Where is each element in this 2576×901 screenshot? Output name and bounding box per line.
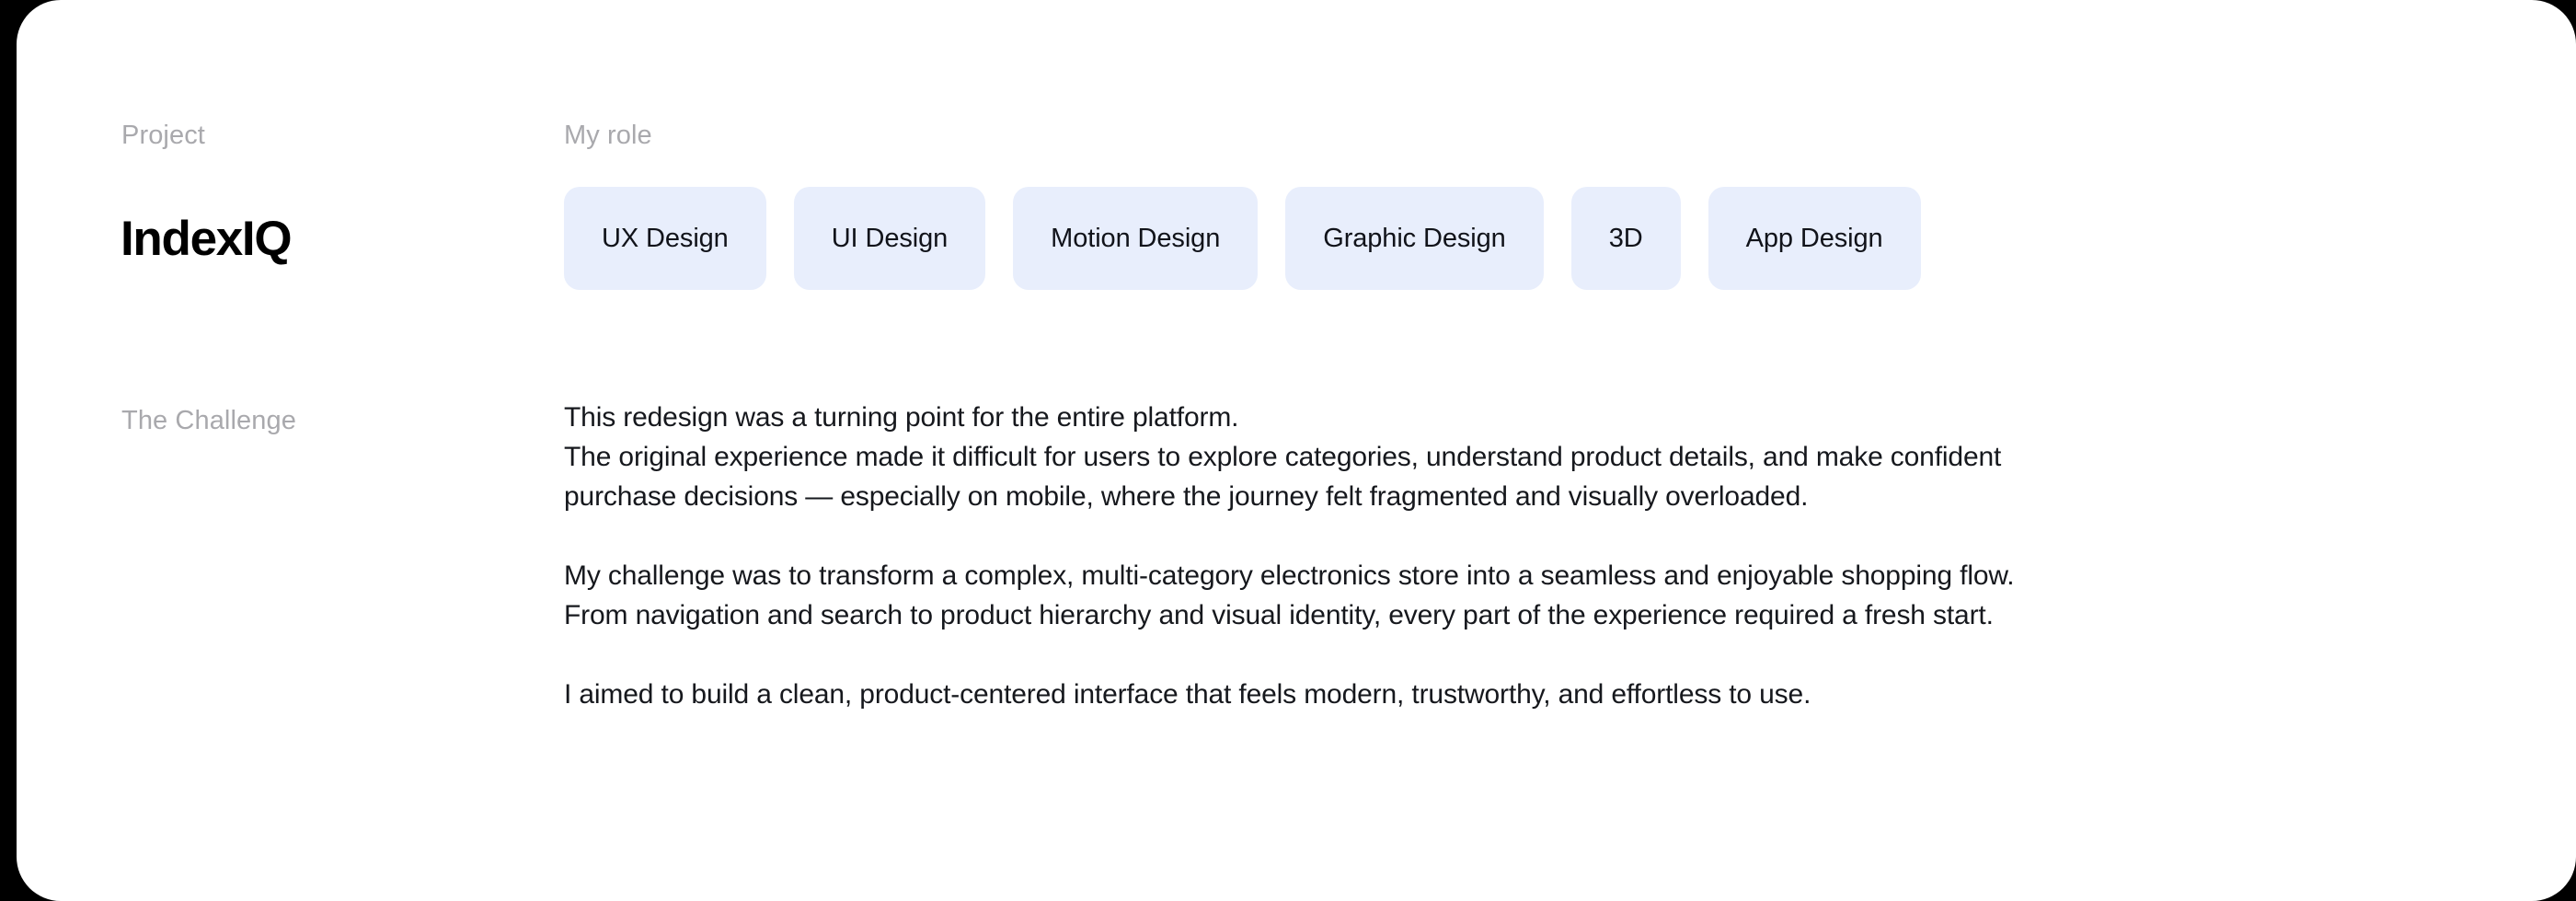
project-meta-column: Project IndexIQ The Challenge	[106, 0, 547, 901]
case-study-card: Project IndexIQ The Challenge My role UX…	[17, 0, 2576, 901]
challenge-body: This redesign was a turning point for th…	[564, 398, 2468, 714]
role-tag-ui-design[interactable]: UI Design	[794, 187, 985, 290]
role-tag-graphic-design[interactable]: Graphic Design	[1285, 187, 1543, 290]
role-tag-list: UX Design UI Design Motion Design Graphi…	[564, 187, 1921, 290]
challenge-paragraph: My challenge was to transform a complex,…	[564, 556, 2468, 635]
role-tag-motion-design[interactable]: Motion Design	[1013, 187, 1258, 290]
project-label: Project	[121, 122, 205, 149]
challenge-section-label: The Challenge	[121, 408, 296, 434]
challenge-paragraph: This redesign was a turning point for th…	[564, 398, 2468, 516]
challenge-paragraph: I aimed to build a clean, product-center…	[564, 675, 2468, 714]
role-tag-app-design[interactable]: App Design	[1708, 187, 1921, 290]
page-title: IndexIQ	[121, 214, 291, 263]
project-content-column: My role UX Design UI Design Motion Desig…	[564, 0, 2496, 901]
my-role-label: My role	[564, 122, 652, 149]
role-tag-ux-design[interactable]: UX Design	[564, 187, 766, 290]
role-tag-3d[interactable]: 3D	[1571, 187, 1681, 290]
